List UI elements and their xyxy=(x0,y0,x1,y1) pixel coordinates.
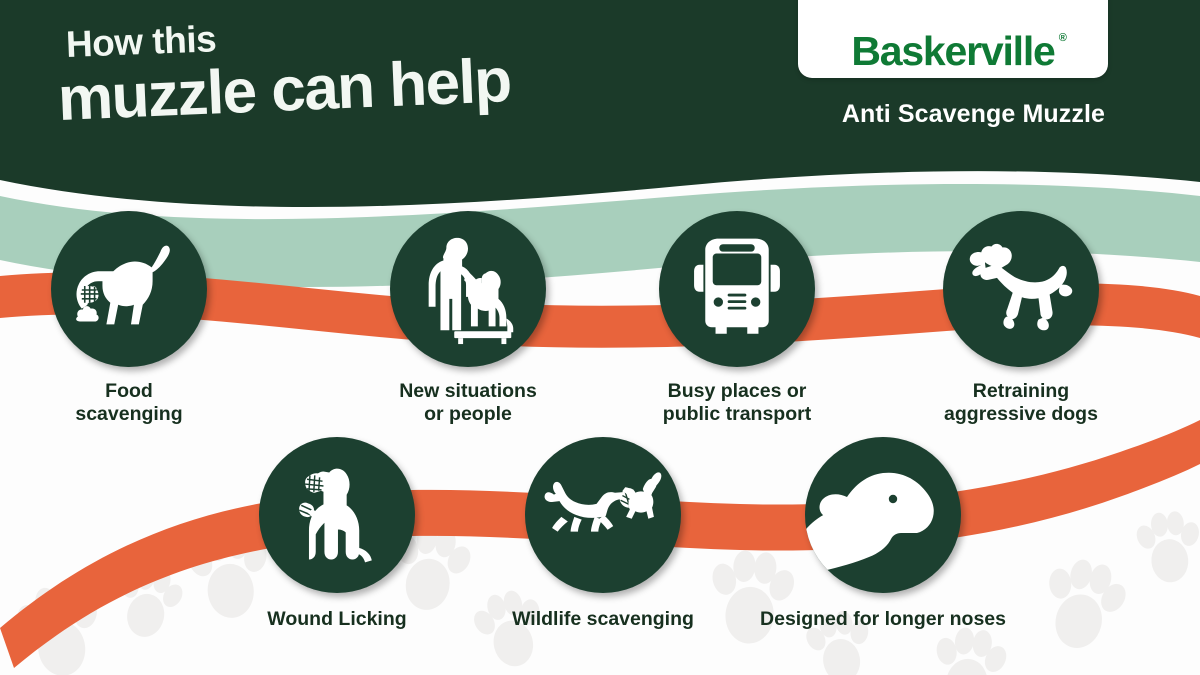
brand-wordmark: Baskerville ® xyxy=(851,31,1054,72)
icon-circle xyxy=(659,211,815,367)
leaping-dog-icon xyxy=(961,229,1081,349)
dog-sniffing-food-icon xyxy=(70,230,188,348)
product-subtitle: Anti Scavenge Muzzle xyxy=(842,100,1105,129)
benefit-item-busy-places[interactable]: Busy places or public transport xyxy=(622,211,852,426)
icon-circle xyxy=(943,211,1099,367)
icon-circle xyxy=(51,211,207,367)
page-title-line2: muzzle can help xyxy=(57,49,512,131)
benefit-item-longer-noses[interactable]: Designed for longer noses xyxy=(753,437,1013,631)
benefit-label: New situations or people xyxy=(353,380,583,426)
infographic-canvas: How this muzzle can help Baskerville ® A… xyxy=(0,0,1200,675)
benefit-item-new-situations[interactable]: New situations or people xyxy=(353,211,583,426)
benefit-item-wound-licking[interactable]: Wound Licking xyxy=(222,437,452,631)
person-greeting-dog-icon xyxy=(409,230,527,348)
benefit-label: Busy places or public transport xyxy=(622,380,852,426)
bus-icon xyxy=(681,233,793,345)
benefit-label: Retraining aggressive dogs xyxy=(906,380,1136,426)
benefit-item-food-scavenging[interactable]: Food scavenging xyxy=(14,211,244,426)
icon-circle xyxy=(390,211,546,367)
muzzle-basket xyxy=(80,286,99,303)
benefit-label: Designed for longer noses xyxy=(753,608,1013,631)
benefit-item-wildlife-scavenging[interactable]: Wildlife scavenging xyxy=(488,437,718,631)
registered-trademark-icon: ® xyxy=(1059,33,1066,44)
icon-circle xyxy=(525,437,681,593)
brand-wordmark-text: Baskerville xyxy=(851,28,1054,74)
dog-chasing-rabbit-icon xyxy=(541,459,665,571)
benefit-label: Wound Licking xyxy=(222,608,452,631)
icon-circle xyxy=(805,437,961,593)
benefit-label: Food scavenging xyxy=(14,380,244,426)
benefit-item-retraining[interactable]: Retraining aggressive dogs xyxy=(906,211,1136,426)
dog-head-profile-icon xyxy=(805,437,961,593)
benefit-label: Wildlife scavenging xyxy=(488,608,718,631)
icon-circle xyxy=(259,437,415,593)
sitting-dog-bandaged-paw-icon xyxy=(279,457,395,573)
brand-logo-panel: Baskerville ® xyxy=(798,0,1108,78)
rabbit xyxy=(622,472,661,518)
running-dog xyxy=(545,482,637,532)
header-title-block: How this muzzle can help xyxy=(58,26,511,131)
